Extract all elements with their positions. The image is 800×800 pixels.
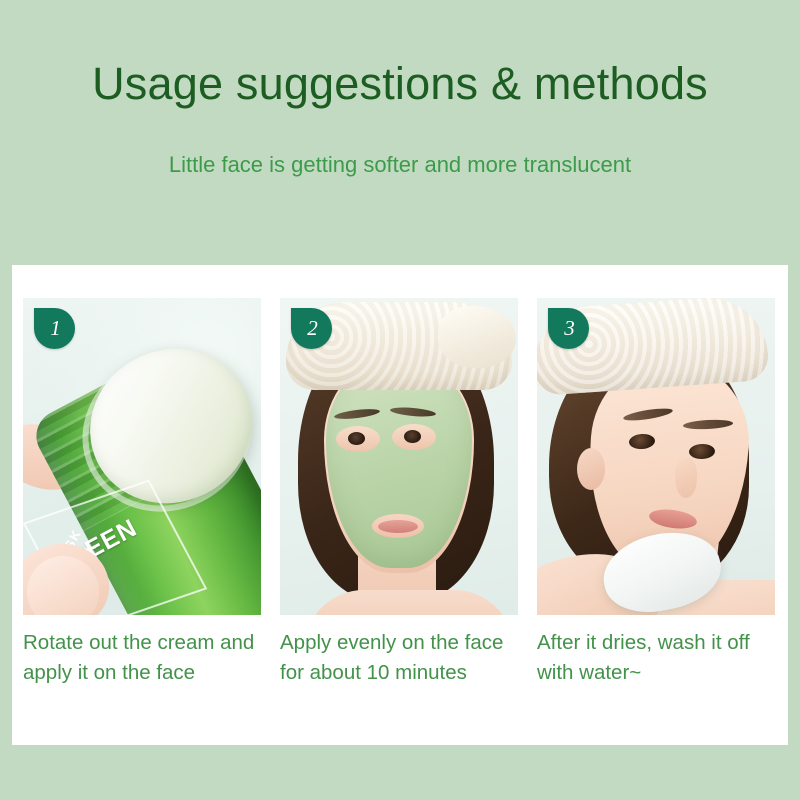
page-subtitle: Little face is getting softer and more t… (0, 150, 800, 180)
usage-suggestions-poster: Usage suggestions & methods Little face … (0, 0, 800, 800)
step-item-3: 3 After it dries, wash it off with water… (537, 298, 775, 688)
headband-bow (438, 306, 516, 368)
step-photo-3: 3 (537, 298, 775, 615)
step-item-1: GREEN MASK STICK 1 (23, 298, 261, 688)
step-item-2: 2 Apply evenly on the face for about 10 … (280, 298, 518, 688)
steps-card: GREEN MASK STICK 1 (12, 265, 788, 745)
eye-left (348, 432, 365, 445)
ear (577, 448, 605, 490)
nose (675, 458, 697, 498)
step-photo-1: GREEN MASK STICK 1 (23, 298, 261, 615)
lips (378, 520, 418, 533)
steps-list: GREEN MASK STICK 1 (12, 265, 788, 745)
header: Usage suggestions & methods Little face … (0, 0, 800, 262)
shoulder (304, 590, 514, 615)
eye-right (404, 430, 421, 443)
page-title: Usage suggestions & methods (0, 57, 800, 111)
step-caption-3: After it dries, wash it off with water~ (537, 628, 775, 688)
step-caption-1: Rotate out the cream and apply it on the… (23, 628, 261, 688)
step-caption-2: Apply evenly on the face for about 10 mi… (280, 628, 518, 688)
step-photo-2: 2 (280, 298, 518, 615)
step-number-3: 3 (548, 308, 589, 349)
step-badge-2: 2 (291, 308, 332, 349)
step-badge-3: 3 (548, 308, 589, 349)
step-number-2: 2 (291, 308, 332, 349)
step-badge-1: 1 (34, 308, 75, 349)
step-number-1: 1 (34, 308, 75, 349)
